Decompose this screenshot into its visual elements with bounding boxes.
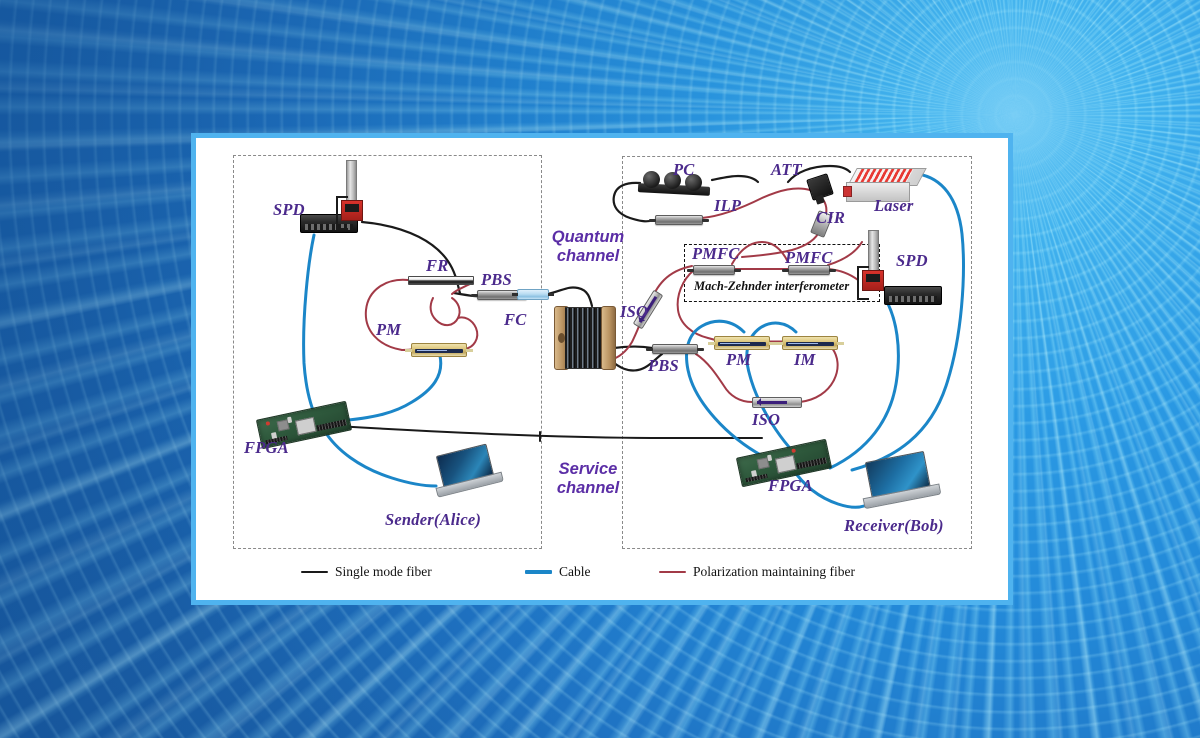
bob-intensity-modulator — [782, 336, 838, 350]
label-bob-im: IM — [794, 350, 816, 370]
label-bob-ilp: ILP — [714, 196, 741, 216]
legend-label-single-mode-fiber: Single mode fiber — [335, 564, 432, 580]
bob-isolator-lower — [752, 397, 802, 408]
label-sender-alice: Sender(Alice) — [385, 510, 481, 530]
label-bob-spd: SPD — [896, 251, 928, 271]
label-bob-laser: Laser — [874, 196, 914, 216]
label-alice-spd: SPD — [273, 200, 305, 220]
legend-label-pm-fiber: Polarization maintaining fiber — [693, 564, 855, 580]
label-alice-fpga: FPGA — [244, 438, 289, 458]
bob-pmfc-1 — [693, 265, 735, 275]
legend-item-pm-fiber: Polarization maintaining fiber — [659, 564, 855, 580]
legend-item-cable: Cable — [525, 564, 591, 580]
bob-spd-connector-block — [884, 286, 942, 305]
legend: Single mode fiber Cable Polarization mai… — [301, 564, 921, 586]
legend-swatch-line-pm-fiber — [659, 571, 686, 573]
label-service-channel: Service channel — [544, 460, 632, 498]
bob-inline-polarizer — [655, 215, 703, 225]
label-bob-pm: PM — [726, 350, 751, 370]
legend-swatch-line-single-mode-fiber — [301, 571, 328, 573]
label-bob-att: ATT — [771, 160, 802, 180]
label-alice-pm: PM — [376, 320, 401, 340]
label-alice-fr: FR — [426, 256, 448, 276]
legend-swatch-line-cable — [525, 570, 552, 573]
bob-spd-bracket — [857, 266, 869, 300]
label-bob-fpga: FPGA — [768, 476, 813, 496]
fiber-spool — [554, 306, 614, 368]
alice-fiber-connector — [517, 289, 549, 300]
label-bob-iso-upper: ISO — [620, 302, 648, 322]
diagram-panel: SPD FR PBS PM FC FPGA Sender(Alice) PC A… — [196, 138, 1008, 600]
label-alice-pbs: PBS — [481, 270, 512, 290]
legend-label-cable: Cable — [559, 564, 591, 580]
label-bob-pbs: PBS — [648, 356, 679, 376]
alice-phase-modulator — [411, 343, 467, 357]
label-receiver-bob: Receiver(Bob) — [844, 516, 944, 536]
label-bob-pmfc-1: PMFC — [692, 244, 740, 264]
bob-pbs-module — [652, 344, 698, 354]
figure-canvas: SPD FR PBS PM FC FPGA Sender(Alice) PC A… — [0, 0, 1200, 738]
label-bob-cir: CIR — [816, 208, 845, 228]
label-bob-pmfc-2: PMFC — [785, 248, 833, 268]
label-bob-pc: PC — [673, 160, 694, 180]
alice-faraday-rotator — [408, 276, 474, 285]
alice-spd-bracket — [336, 196, 348, 230]
bob-phase-modulator — [714, 336, 770, 350]
label-quantum-channel: Quantum channel — [544, 228, 632, 266]
label-mach-zehnder: Mach-Zehnder interferometer — [694, 279, 849, 294]
label-alice-fc: FC — [504, 310, 526, 330]
legend-item-single-mode-fiber: Single mode fiber — [301, 564, 432, 580]
label-bob-iso-lower: ISO — [752, 410, 780, 430]
